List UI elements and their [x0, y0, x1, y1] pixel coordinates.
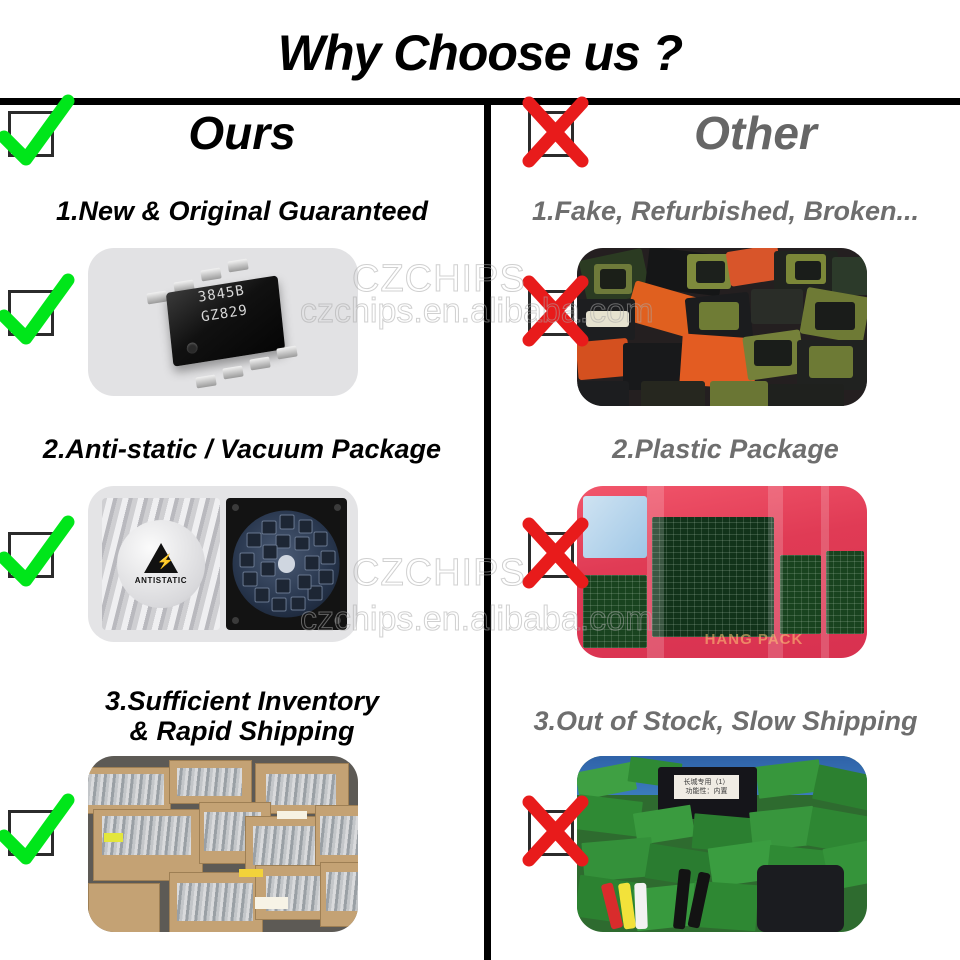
reel-hub — [278, 555, 295, 572]
column-ours: Ours 1.New & Original Guaranteed 3845B G… — [0, 100, 484, 960]
reel-disc — [233, 511, 340, 618]
stocked-boxes-photo — [88, 756, 358, 932]
component-reel — [226, 498, 348, 629]
check-glyph — [0, 794, 74, 872]
chip-photo: 3845B GZ829 — [88, 248, 358, 396]
page-title: Why Choose us ? — [0, 24, 960, 82]
item-title-left-3-line2: & Rapid Shipping — [0, 716, 484, 746]
item-title-right-2: 2.Plastic Package — [491, 434, 960, 464]
cross-glyph — [516, 274, 594, 352]
check-icon-row-3 — [8, 810, 54, 856]
black-box-label-line-1: 长城专用（1） — [684, 778, 730, 787]
item-title-right-3: 3.Out of Stock, Slow Shipping — [491, 706, 960, 736]
scrap-chips-photo — [577, 248, 867, 406]
check-icon-row-2 — [8, 532, 54, 578]
check-icon-row-1 — [8, 290, 54, 336]
cross-glyph — [516, 516, 594, 594]
column-heading-other: Other — [491, 106, 960, 160]
antistatic-bag-reel-photo: ⚡ ANTISTATIC — [88, 486, 358, 642]
cross-icon-row-3 — [528, 810, 574, 856]
check-glyph — [0, 516, 74, 594]
cross-icon-row-2 — [528, 532, 574, 578]
column-other: Other 1.Fake, Refurbished, Broken... — [491, 100, 960, 960]
item-title-left-2: 2.Anti-static / Vacuum Package — [0, 434, 484, 464]
cross-icon-row-1 — [528, 290, 574, 336]
item-title-left-3: 3.Sufficient Inventory & Rapid Shipping — [0, 686, 484, 746]
cross-glyph — [516, 794, 594, 872]
column-heading-ours: Ours — [0, 106, 504, 160]
black-pad-item — [757, 865, 844, 932]
lightning-bolt-icon: ⚡ — [157, 554, 174, 568]
why-choose-us-banner: Why Choose us ? Ours 1.New & Original Gu… — [0, 0, 960, 960]
antistatic-label-text: ANTISTATIC — [135, 576, 187, 585]
antistatic-bag: ⚡ ANTISTATIC — [102, 498, 221, 629]
black-box-label-line-2: 功能性：内置 — [685, 787, 727, 796]
esd-warning-triangle-icon: ⚡ — [144, 543, 178, 573]
chip-pin1-dot — [186, 341, 198, 354]
black-box-label: 长城专用（1） 功能性：内置 — [674, 775, 739, 799]
check-glyph — [0, 274, 74, 352]
pack-watermark-text: HANG PACK — [705, 631, 804, 648]
item-title-left-3-line1: 3.Sufficient Inventory — [0, 686, 484, 716]
column-divider — [484, 100, 491, 960]
pcb-scrap-pile-photo: 长城专用（1） 功能性：内置 — [577, 756, 867, 932]
plastic-bag-pcb-photo: HANG PACK — [577, 486, 867, 658]
antistatic-label: ⚡ ANTISTATIC — [117, 520, 205, 608]
item-title-left-1: 1.New & Original Guaranteed — [0, 196, 484, 226]
item-title-right-1: 1.Fake, Refurbished, Broken... — [491, 196, 960, 226]
